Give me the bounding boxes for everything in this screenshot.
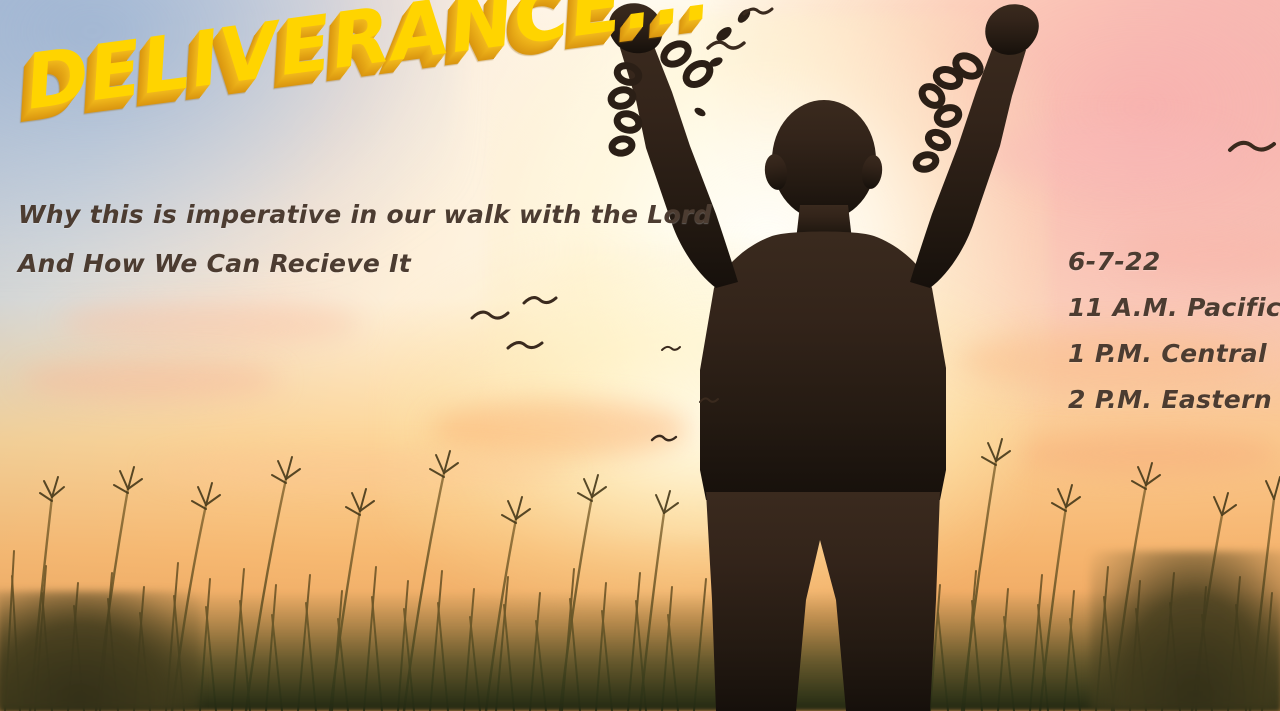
- schedule-time-pacific: 11 A.M. Pacific: [1068, 293, 1280, 322]
- deliverance-poster: DELIVERANCE... Why this is imperative in…: [0, 0, 1280, 711]
- cloud-streak: [60, 300, 360, 346]
- subtitle-line-2: And How We Can Recieve It: [18, 249, 712, 278]
- bush-left: [0, 591, 200, 711]
- grass-field: [0, 401, 1280, 711]
- cloud-streak: [980, 120, 1240, 190]
- schedule-time-eastern: 2 P.M. Eastern: [1068, 385, 1280, 414]
- subtitle-block: Why this is imperative in our walk with …: [18, 200, 712, 298]
- schedule-date: 6-7-22: [1068, 247, 1280, 276]
- subtitle-line-1: Why this is imperative in our walk with …: [18, 200, 712, 229]
- schedule-block: 6-7-22 11 A.M. Pacific 1 P.M. Central 2 …: [1068, 247, 1280, 431]
- schedule-time-central: 1 P.M. Central: [1068, 339, 1280, 368]
- bush-right: [1090, 551, 1280, 711]
- cloud-streak: [20, 360, 280, 400]
